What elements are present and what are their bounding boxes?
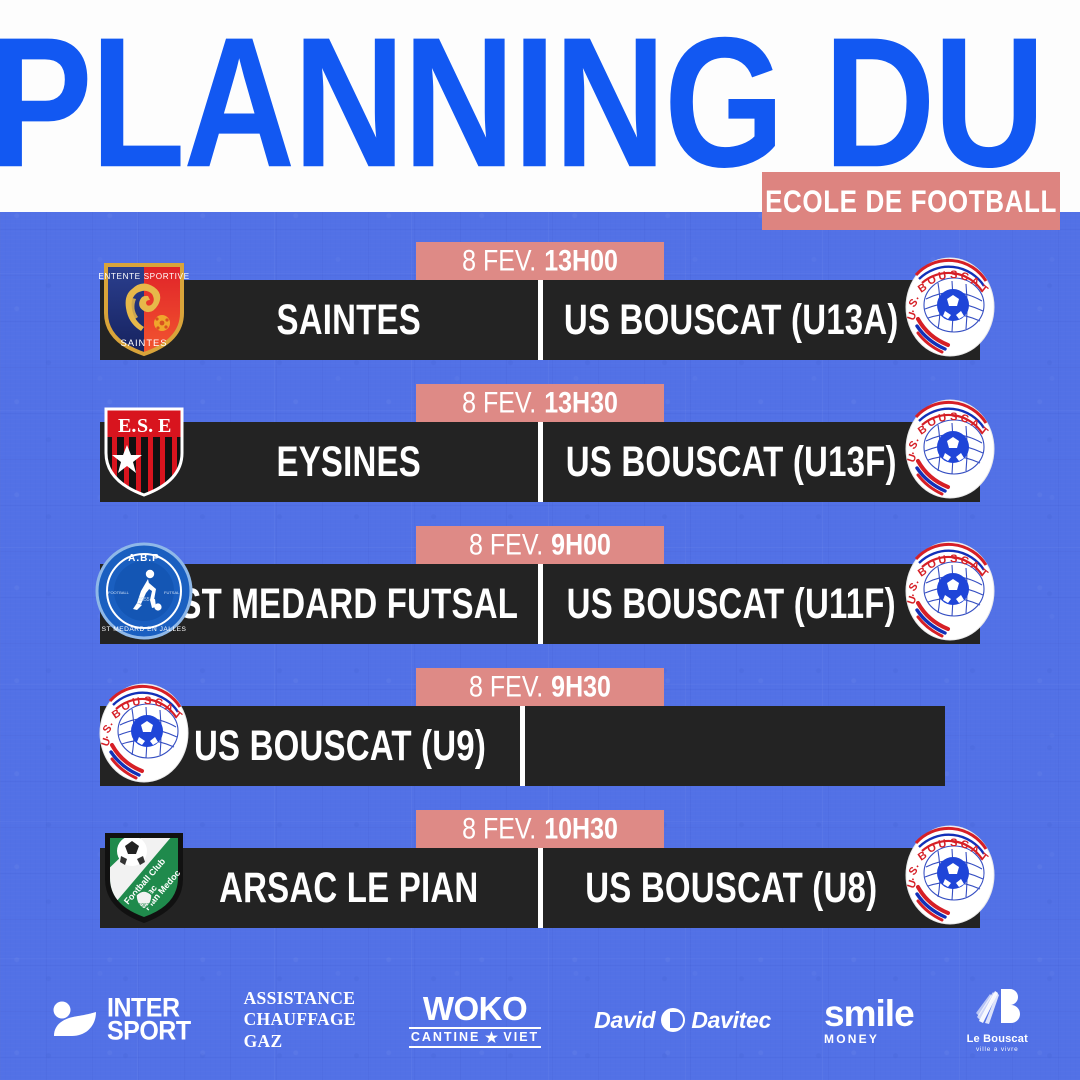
category-badge-label: ECOLE DE FOOTBALL [765,182,1057,220]
match-date: 8 FEV. [462,386,536,420]
home-team: ARSAC LE PIAN [100,848,538,928]
home-team-name: ARSAC LE PIAN [219,864,478,913]
intersport-line2: SPORT [107,1019,191,1044]
away-team-name: US BOUSCAT (U8) [585,864,877,913]
match-bar: SAINTES US BOUSCAT (U13A) [100,280,980,360]
home-team-name: ST MEDARD FUTSAL [179,580,518,629]
star-icon [485,1031,498,1044]
svg-text:A.B.P: A.B.P [128,553,160,564]
category-badge: ECOLE DE FOOTBALL [762,172,1060,230]
home-team: EYSINES [100,422,538,502]
home-team-name: SAINTES [277,296,421,345]
david-line2: Davitec [691,1007,771,1034]
match-row: 8 FEV. 9H00 ST MEDARD FUTSAL US BOUSCAT … [0,520,1080,662]
woko-tagline-left: CANTINE [411,1031,481,1044]
david-line1: David [594,1007,655,1034]
sponsor-ville-le-bouscat: Le Bouscat ville a vivre [967,987,1028,1054]
intersport-wordmark: INTER SPORT [107,997,191,1043]
woko-tagline-right: VIET [503,1031,539,1044]
match-date: 8 FEV. [469,670,543,704]
smile-wordmark: smile [824,995,914,1032]
sponsor-assistance-chauffage-gaz: ASSISTANCE CHAUFFAGE GAZ [244,988,356,1052]
home-team-name: EYSINES [277,438,421,487]
match-bar: US BOUSCAT (U9) [100,706,945,786]
sponsor-bar: INTER SPORT ASSISTANCE CHAUFFAGE GAZ WOK… [0,960,1080,1080]
sponsor-intersport: INTER SPORT [52,997,191,1043]
match-time: 13H30 [544,386,618,420]
woko-tagline: CANTINE VIET [409,1027,541,1048]
match-time-badge: 8 FEV. 9H00 [416,526,664,564]
away-team-name: US BOUSCAT (U13A) [564,296,899,345]
match-list: 8 FEV. 13H00 SAINTES US BOUSCAT (U13A) [0,236,1080,946]
match-row: 8 FEV. 13H30 EYSINES US BOUSCAT (U13F) [0,378,1080,520]
away-team-empty [525,706,945,786]
david-swirl-icon [661,1008,685,1032]
match-date: 8 FEV. [462,812,536,846]
away-team-name: US BOUSCAT (U11F) [567,580,896,629]
match-row: 8 FEV. 9H30 US BOUSCAT (U9) [0,662,1080,804]
acg-line3: GAZ [244,1031,356,1052]
match-time-badge: 8 FEV. 9H30 [416,668,664,706]
home-team: SAINTES [100,280,538,360]
match-time-badge: 8 FEV. 13H30 [416,384,664,422]
match-time-badge: 8 FEV. 13H00 [416,242,664,280]
match-bar: ARSAC LE PIAN US BOUSCAT (U8) [100,848,980,928]
sponsor-david-davitec: David Davitec [594,1007,771,1034]
match-date: 8 FEV. [469,528,543,562]
smile-sub: MONEY [824,1033,879,1045]
match-date: 8 FEV. [462,244,536,278]
home-team: ST MEDARD FUTSAL [100,564,538,644]
away-team: US BOUSCAT (U13F) [543,422,981,502]
poster-root: PLANNING DU WEEK-END ECOLE DE FOOTBALL 8… [0,0,1080,1080]
match-time: 10H30 [544,812,618,846]
match-bar: ST MEDARD FUTSAL US BOUSCAT (U11F) [100,564,980,644]
match-time-badge: 8 FEV. 10H30 [416,810,664,848]
away-team: US BOUSCAT (U13A) [543,280,981,360]
match-bar: EYSINES US BOUSCAT (U13F) [100,422,980,502]
sponsor-smile-money: smile MONEY [824,995,914,1045]
le-bouscat-leaf-b-icon [973,987,1021,1031]
intersport-mark-icon [52,1000,98,1040]
bouscat-ville-name: Le Bouscat [967,1034,1028,1045]
bouscat-ville-sub: ville a vivre [976,1047,1019,1054]
home-team-name: US BOUSCAT (U9) [194,722,486,771]
match-row: 8 FEV. 10H30 ARSAC LE PIAN US BOUSCAT (U… [0,804,1080,946]
match-time: 9H30 [551,670,611,704]
home-team: US BOUSCAT (U9) [100,706,520,786]
match-time: 13H00 [544,244,618,278]
match-row: 8 FEV. 13H00 SAINTES US BOUSCAT (U13A) [0,236,1080,378]
acg-line1: ASSISTANCE [244,988,356,1009]
woko-wordmark: WOKO [423,992,527,1025]
sponsor-woko: WOKO CANTINE VIET [409,992,541,1048]
away-team: US BOUSCAT (U11F) [543,564,981,644]
acg-line2: CHAUFFAGE [244,1009,356,1030]
match-time: 9H00 [551,528,611,562]
away-team: US BOUSCAT (U8) [543,848,981,928]
away-team-name: US BOUSCAT (U13F) [566,438,897,487]
